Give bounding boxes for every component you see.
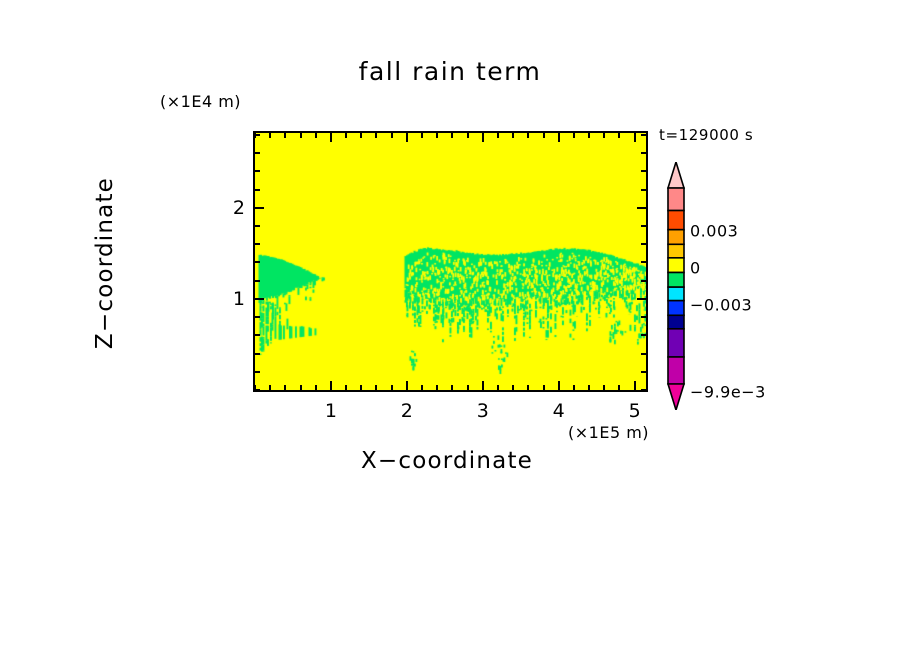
chart-title-text: fall rain term [359,57,542,86]
x-axis-tick-label: 4 [553,400,565,422]
y-axis-tick-label: 1 [221,288,245,310]
x-axis-title: X−coordinate [0,448,904,474]
colorbar-under-arrow [668,384,684,410]
field-heatmap [255,133,646,390]
x-axis-tick-label: 3 [477,400,489,422]
colorbar-segment [668,287,684,301]
plot-area [253,131,648,392]
colorbar-segment [668,244,684,258]
y-axis-title: Z−coordinate [92,113,118,413]
x-axis-tick-label: 1 [325,400,337,422]
colorbar-tick-label: 0 [690,259,701,278]
colorbar-tick-label: −0.003 [690,296,752,315]
page-title: fall rain term [0,57,904,86]
y-axis-unit-label: (×1E4 m) [160,92,241,111]
colorbar-tick-label: −9.9e−3 [690,383,766,402]
colorbar-segment [668,329,684,357]
colorbar [664,162,688,410]
colorbar-segment [668,230,684,245]
y-axis-title-text: Z−coordinate [92,177,118,349]
colorbar-segment [668,301,684,316]
colorbar-svg [664,162,688,410]
colorbar-segment [668,357,684,384]
timestamp-label: t=129000 s [659,126,753,144]
x-axis-tick-label: 2 [401,400,413,422]
colorbar-segment [668,211,684,230]
x-axis-title-text: X−coordinate [361,448,533,474]
colorbar-segment [668,315,684,329]
x-axis-unit-label: (×1E5 m) [568,423,649,442]
y-axis-tick-label: 2 [221,197,245,219]
colorbar-segment [668,188,684,211]
colorbar-over-arrow [668,162,684,188]
colorbar-segment [668,272,684,287]
colorbar-segment [668,258,684,273]
x-axis-tick-label: 5 [629,400,641,422]
colorbar-tick-label: 0.003 [690,222,738,241]
